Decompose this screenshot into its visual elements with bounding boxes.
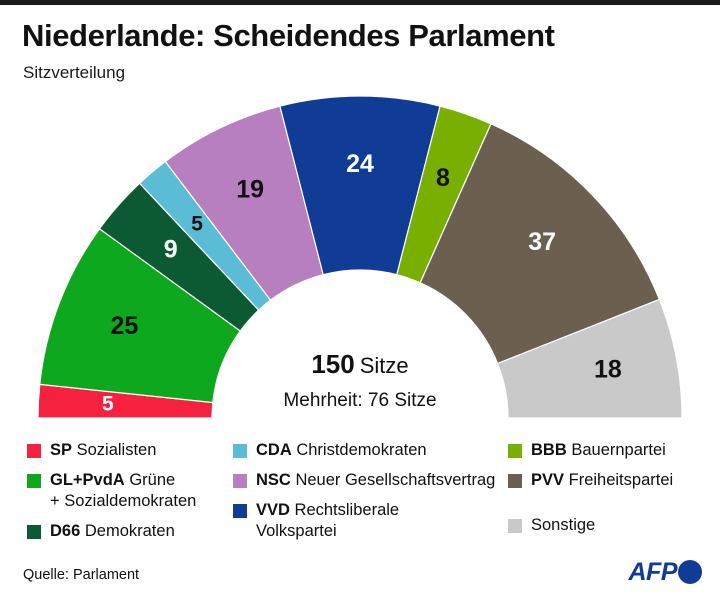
legend-abbr-pvv: PVV <box>531 471 564 489</box>
segment-value-gl-pvda: 25 <box>110 312 138 340</box>
legend-swatch-d66 <box>27 525 41 539</box>
legend-item-gl-pvda[interactable]: GL+PvdA Grüne+ Sozialdemokraten <box>27 470 267 512</box>
segment-value-vvd: 24 <box>346 150 374 178</box>
total-seats-number: 150 <box>311 349 354 379</box>
page-title: Niederlande: Scheidendes Parlament <box>22 18 555 54</box>
legend-desc-d66: Demokraten <box>85 522 175 540</box>
legend-column-3: BBB BauernparteiPVV FreiheitsparteiSonst… <box>508 440 718 545</box>
legend-swatch-vvd <box>233 504 247 518</box>
source-note: Quelle: Parlament <box>23 567 139 583</box>
afp-logo-text: AFP <box>629 560 678 585</box>
legend-item-pvv[interactable]: PVV Freiheitspartei <box>508 470 718 491</box>
segment-value-pvv: 37 <box>528 228 556 256</box>
legend: SP SozialistenGL+PvdA Grüne+ Sozialdemok… <box>0 440 720 550</box>
legend-column-2: CDA ChristdemokratenNSC Neuer Gesellscha… <box>233 440 503 551</box>
legend-item-vvd[interactable]: VVD RechtsliberaleVolkspartei <box>233 500 503 542</box>
legend-desc-sp: Sozialisten <box>77 441 157 459</box>
infographic-root: Niederlande: Scheidendes Parlament Sitzv… <box>0 0 720 600</box>
legend-abbr-vvd: VVD <box>256 501 290 519</box>
afp-logo-dot-icon <box>678 560 702 584</box>
legend-item-cda[interactable]: CDA Christdemokraten <box>233 440 503 461</box>
legend-swatch-sp <box>27 444 41 458</box>
legend-abbr-sp: SP <box>50 441 72 459</box>
legend-desc2-vvd: Volkspartei <box>256 522 337 540</box>
legend-swatch-nsc <box>233 474 247 488</box>
segment-value-cda: 5 <box>191 213 203 236</box>
legend-swatch-cda <box>233 444 247 458</box>
legend-swatch-gl-pvda <box>27 474 41 488</box>
legend-desc-pvv: Freiheitspartei <box>569 471 674 489</box>
legend-swatch-bbb <box>508 444 522 458</box>
top-rule-divider <box>0 0 720 5</box>
segment-value-d66: 9 <box>164 236 178 264</box>
legend-desc2-gl-pvda: + Sozialdemokraten <box>50 492 196 510</box>
legend-item-d66[interactable]: D66 Demokraten <box>27 521 267 542</box>
legend-column-1: SP SozialistenGL+PvdA Grüne+ Sozialdemok… <box>27 440 267 551</box>
segment-value-nsc: 19 <box>236 175 264 203</box>
legend-abbr-gl-pvda: GL+PvdA <box>50 471 125 489</box>
legend-desc-vvd: Rechtsliberale <box>295 501 400 519</box>
legend-abbr-d66: D66 <box>50 522 80 540</box>
total-seats-block: 150Sitze <box>0 349 720 380</box>
legend-desc-sonstige: Sonstige <box>531 516 595 534</box>
majority-note: Mehrheit: 76 Sitze <box>0 390 720 412</box>
legend-desc-bbb: Bauernpartei <box>571 441 665 459</box>
legend-desc-cda: Christdemokraten <box>296 441 426 459</box>
legend-abbr-nsc: NSC <box>256 471 291 489</box>
legend-item-bbb[interactable]: BBB Bauernpartei <box>508 440 718 461</box>
afp-logo: AFP <box>629 558 703 586</box>
legend-swatch-pvv <box>508 474 522 488</box>
legend-desc-gl-pvda: Grüne <box>129 471 175 489</box>
total-seats-word: Sitze <box>355 353 409 378</box>
legend-desc-nsc: Neuer Gesellschaftsvertrag <box>295 471 495 489</box>
legend-swatch-sonstige <box>508 519 522 533</box>
legend-item-sp[interactable]: SP Sozialisten <box>27 440 267 461</box>
legend-abbr-cda: CDA <box>256 441 292 459</box>
legend-item-sonstige[interactable]: Sonstige <box>508 515 718 536</box>
legend-item-nsc[interactable]: NSC Neuer Gesellschaftsvertrag <box>233 470 503 491</box>
segment-value-bbb: 8 <box>436 164 450 192</box>
legend-abbr-bbb: BBB <box>531 441 567 459</box>
